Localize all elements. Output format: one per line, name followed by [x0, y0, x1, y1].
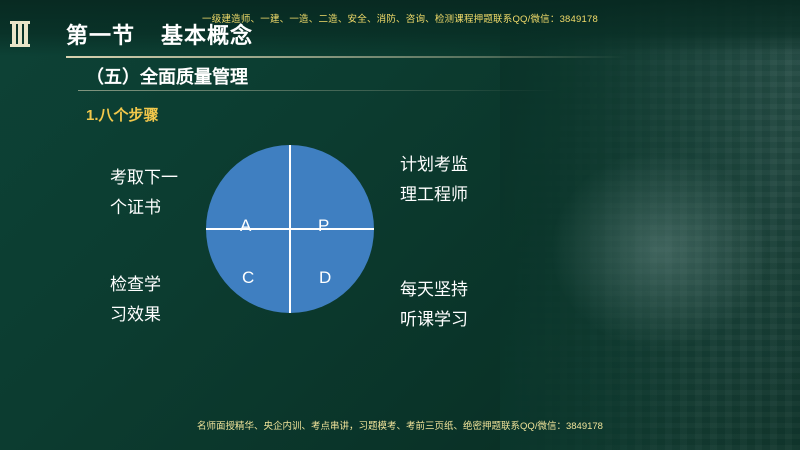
callout-bottom-left-line2: 习效果	[110, 300, 161, 330]
callout-bottom-right-line2: 听课学习	[400, 305, 468, 335]
footer-promo-note: 名师面授精华、央企内训、考点串讲，习题模考、考前三页纸、绝密押题联系QQ/微信：…	[0, 418, 800, 432]
pdca-quadrant-a: A	[240, 216, 251, 236]
callout-top-right-line1: 计划考监	[400, 150, 468, 180]
callout-bottom-right: 每天坚持 听课学习	[400, 275, 468, 335]
callout-top-right-line2: 理工程师	[400, 180, 468, 210]
page-title-main: 第一节	[66, 18, 135, 50]
page-title-sub: 基本概念	[161, 18, 253, 50]
slide: 一级建造师、一建、一造、二造、安全、消防、咨询、检测课程押题联系QQ/微信：38…	[0, 0, 800, 450]
title-divider	[66, 56, 626, 58]
subsection-heading: 1.八个步骤	[86, 104, 159, 125]
callout-top-left-line2: 个证书	[110, 193, 178, 223]
background-building-photo	[500, 0, 800, 450]
building-logo-icon	[10, 18, 46, 48]
building-logo-svg	[10, 18, 46, 48]
pdca-diagram: A P C D	[206, 145, 374, 313]
pdca-divider-horizontal	[206, 228, 374, 230]
callout-top-left: 考取下一 个证书	[110, 163, 178, 223]
pdca-quadrant-d: D	[319, 268, 331, 288]
section-divider	[78, 90, 558, 91]
slide-title: 第一节 基本概念	[66, 18, 253, 50]
callout-bottom-left-line1: 检查学	[110, 270, 161, 300]
callout-bottom-right-line1: 每天坚持	[400, 275, 468, 305]
callout-top-left-line1: 考取下一	[110, 163, 178, 193]
callout-top-right: 计划考监 理工程师	[400, 150, 468, 210]
pdca-quadrant-c: C	[242, 268, 254, 288]
section-heading: （五）全面质量管理	[86, 63, 248, 89]
pdca-quadrant-p: P	[318, 216, 329, 236]
callout-bottom-left: 检查学 习效果	[110, 270, 161, 330]
